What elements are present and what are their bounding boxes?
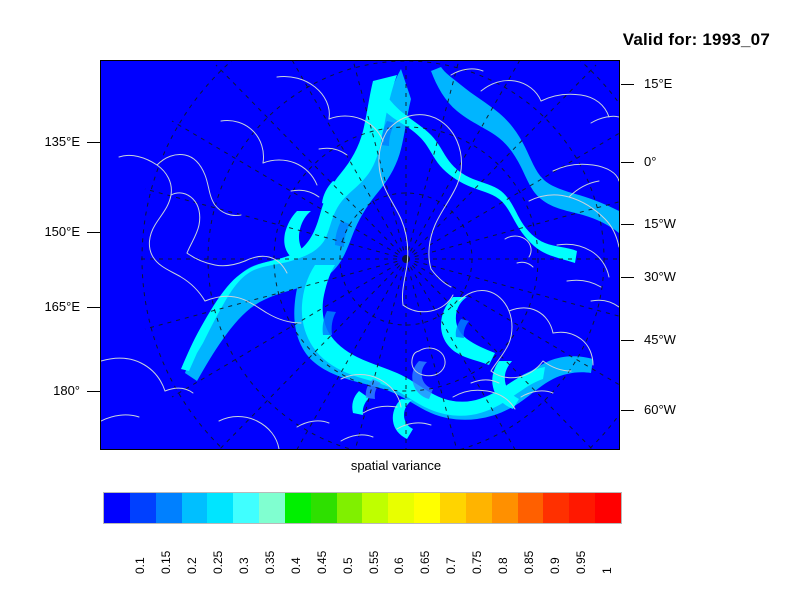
colorbar-tick-0.25: 0.25: [211, 551, 225, 574]
axis-label-right-1: 0°: [644, 154, 656, 169]
map-plot-area: [100, 60, 620, 450]
colorbar-band-9: [337, 493, 363, 523]
axis-tick-right-4: [621, 340, 634, 341]
colorbar-band-5: [233, 493, 259, 523]
colorbar-tick-0.85: 0.85: [522, 551, 536, 574]
colorbar-band-14: [466, 493, 492, 523]
colorbar-band-3: [182, 493, 208, 523]
colorbar-tick-0.75: 0.75: [470, 551, 484, 574]
colorbar-tick-0.15: 0.15: [159, 551, 173, 574]
colorbar-band-7: [285, 493, 311, 523]
colorbar-tick-0.95: 0.95: [574, 551, 588, 574]
colorbar-band-1: [130, 493, 156, 523]
axis-tick-left-0: [87, 142, 100, 143]
colorbar-band-0: [104, 493, 130, 523]
colorbar-tick-1: 1: [600, 567, 614, 574]
colorbar-tick-0.5: 0.5: [341, 557, 355, 574]
colorbar-tick-0.2: 0.2: [185, 557, 199, 574]
axis-tick-right-0: [621, 84, 634, 85]
colorbar-tick-0.3: 0.3: [237, 557, 251, 574]
axis-label-right-4: 45°W: [644, 332, 676, 347]
colorbar-band-15: [492, 493, 518, 523]
colorbar-tick-0.45: 0.45: [315, 551, 329, 574]
axis-tick-right-1: [621, 162, 634, 163]
page-title: Valid for: 1993_07: [623, 30, 770, 50]
axis-label-left-1: 150°E: [0, 224, 80, 239]
arctic-map: [101, 61, 619, 449]
axis-label-left-3: 180°: [0, 383, 80, 398]
colorbar-tick-labels: 0.10.150.20.250.30.350.40.450.50.550.60.…: [103, 528, 622, 598]
colorbar-band-12: [414, 493, 440, 523]
axis-tick-right-2: [621, 224, 634, 225]
axis-label-right-2: 15°W: [644, 216, 676, 231]
colorbar-tick-0.8: 0.8: [496, 557, 510, 574]
colorbar-band-16: [518, 493, 544, 523]
axis-label-right-5: 60°W: [644, 402, 676, 417]
colorbar-band-11: [388, 493, 414, 523]
axis-label-left-2: 165°E: [0, 299, 80, 314]
colorbar-caption: spatial variance: [0, 458, 792, 473]
colorbar-band-13: [440, 493, 466, 523]
colorbar-band-2: [156, 493, 182, 523]
axis-label-right-0: 15°E: [644, 76, 672, 91]
figure-canvas: Valid for: 1993_07: [0, 0, 792, 612]
colorbar-tick-0.4: 0.4: [289, 557, 303, 574]
colorbar-tick-0.35: 0.35: [263, 551, 277, 574]
colorbar-tick-0.65: 0.65: [418, 551, 432, 574]
axis-tick-left-1: [87, 232, 100, 233]
colorbar-band-6: [259, 493, 285, 523]
colorbar-tick-0.1: 0.1: [133, 557, 147, 574]
colorbar-band-4: [207, 493, 233, 523]
axis-tick-left-3: [87, 391, 100, 392]
axis-label-left-0: 135°E: [0, 134, 80, 149]
axis-tick-right-5: [621, 410, 634, 411]
colorbar-band-17: [543, 493, 569, 523]
colorbar-band-10: [362, 493, 388, 523]
colorbar-band-8: [311, 493, 337, 523]
colorbar-band-19: [595, 493, 621, 523]
axis-label-right-3: 30°W: [644, 269, 676, 284]
colorbar-tick-0.6: 0.6: [392, 557, 406, 574]
axis-tick-right-3: [621, 277, 634, 278]
axis-tick-left-2: [87, 307, 100, 308]
colorbar-tick-0.7: 0.7: [444, 557, 458, 574]
colorbar-tick-0.55: 0.55: [367, 551, 381, 574]
colorbar-tick-0.9: 0.9: [548, 557, 562, 574]
colorbar-band-18: [569, 493, 595, 523]
colorbar: [103, 492, 622, 524]
